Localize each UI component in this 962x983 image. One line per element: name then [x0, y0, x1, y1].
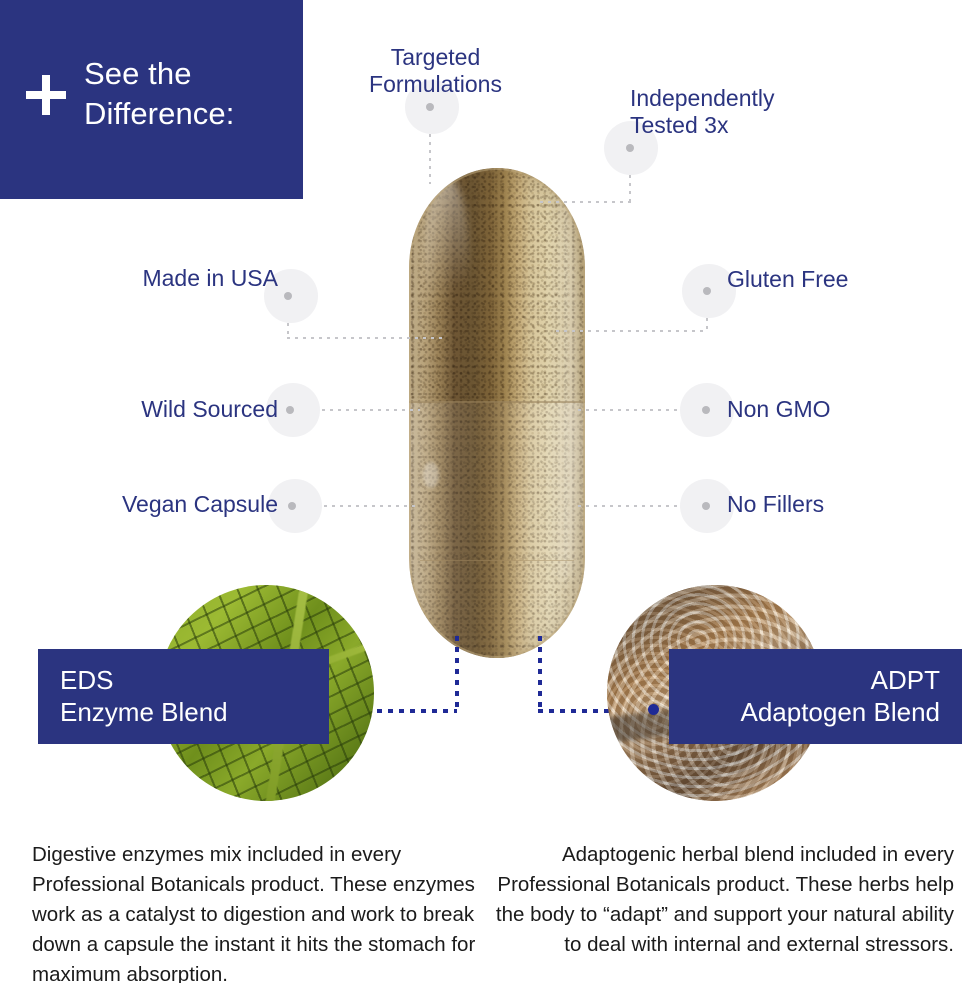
- eds-blend-name: Enzyme Blend: [60, 697, 307, 728]
- plus-icon: [26, 75, 66, 115]
- connector-adpt-vertical: [538, 636, 542, 712]
- connector-independently-tested-horizontal: [540, 201, 631, 203]
- dot-targeted-formulations: [426, 103, 434, 111]
- dot-independently-tested: [626, 144, 634, 152]
- feature-label-independently-tested: Independently Tested 3x: [630, 85, 850, 139]
- connector-made-in-usa-horizontal: [287, 337, 442, 339]
- feature-label-no-fillers: No Fillers: [727, 491, 824, 518]
- eds-blend-label: EDS Enzyme Blend: [38, 649, 329, 744]
- dot-wild-sourced: [286, 406, 294, 414]
- dot-vegan-capsule: [288, 502, 296, 510]
- adpt-blend-description: Adaptogenic herbal blend included in eve…: [492, 840, 954, 960]
- feature-label-made-in-usa: Made in USA: [100, 265, 278, 292]
- page-title: See the Difference:: [84, 54, 303, 133]
- eds-blend-code: EDS: [60, 665, 307, 696]
- capsule-rim: [409, 168, 585, 658]
- dot-no-fillers: [702, 502, 710, 510]
- product-capsule-image: [409, 168, 585, 658]
- dot-made-in-usa: [284, 292, 292, 300]
- header-block: See the Difference:: [0, 0, 303, 199]
- connector-eds-vertical: [455, 636, 459, 712]
- feature-label-vegan-capsule: Vegan Capsule: [70, 491, 278, 518]
- infographic-canvas: See the Difference:: [0, 0, 962, 983]
- feature-label-targeted-formulations: Targeted Formulations: [338, 44, 533, 98]
- dot-adpt-blend: [648, 704, 659, 715]
- connector-gluten-free-horizontal: [556, 330, 708, 332]
- feature-label-wild-sourced: Wild Sourced: [96, 396, 278, 423]
- feature-label-non-gmo: Non GMO: [727, 396, 831, 423]
- dot-gluten-free: [703, 287, 711, 295]
- feature-label-gluten-free: Gluten Free: [727, 266, 848, 293]
- adpt-blend-code: ADPT: [871, 665, 940, 696]
- eds-blend-description: Digestive enzymes mix included in every …: [32, 840, 490, 983]
- dot-non-gmo: [702, 406, 710, 414]
- adpt-blend-name: Adaptogen Blend: [740, 697, 940, 728]
- adpt-blend-label: ADPT Adaptogen Blend: [669, 649, 962, 744]
- capsule-shell: [409, 168, 585, 658]
